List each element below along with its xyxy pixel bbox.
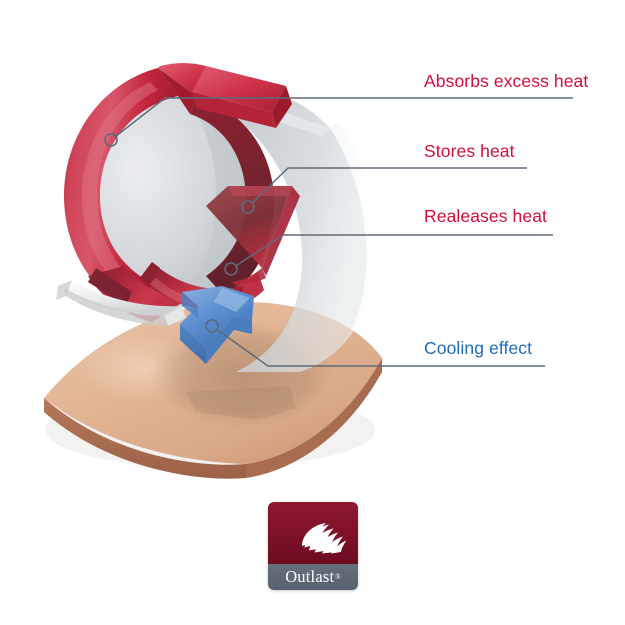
figure-canvas: Absorbs excess heat Stores heat Realease…	[0, 0, 625, 625]
callout-marker-releases	[225, 263, 237, 275]
logo-wordmark-text: Outlast	[285, 567, 334, 587]
callout-marker-cooling	[206, 320, 218, 332]
callout-label-realeases-heat: Realeases heat	[424, 208, 547, 226]
callout-marker-stores	[242, 201, 254, 213]
callout-label-absorbs-excess-heat: Absorbs excess heat	[424, 73, 588, 91]
logo-registered-mark: ®	[335, 573, 341, 581]
callout-marker-absorbs	[105, 134, 117, 146]
outlast-swoosh-icon	[268, 502, 358, 564]
outlast-logo: Outlast®	[268, 502, 358, 590]
callout-label-cooling-effect: Cooling effect	[424, 340, 532, 358]
callout-label-stores-heat: Stores heat	[424, 143, 515, 161]
leader-line-stores	[252, 168, 527, 203]
leader-line-releases	[236, 235, 553, 266]
logo-wordmark: Outlast®	[268, 564, 358, 590]
leader-line-absorbs	[116, 98, 573, 136]
